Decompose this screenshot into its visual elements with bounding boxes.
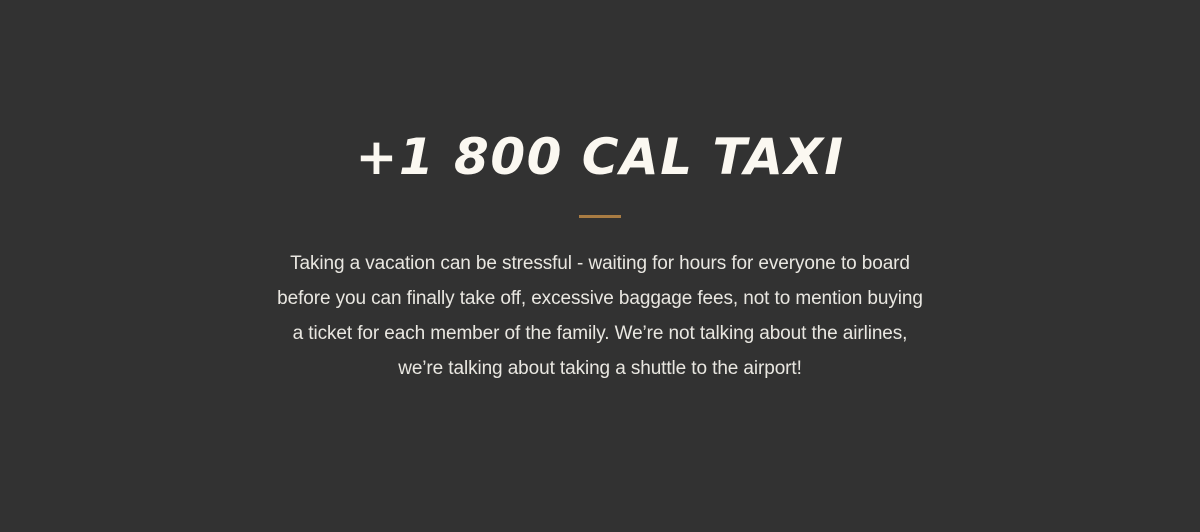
divider-container <box>0 214 1200 218</box>
hero-section: +1 800 CAL TAXI Taking a vacation can be… <box>0 0 1200 532</box>
hero-description: Taking a vacation can be stressful - wai… <box>270 246 930 386</box>
accent-divider <box>579 215 621 218</box>
page-title: +1 800 CAL TAXI <box>355 132 844 182</box>
